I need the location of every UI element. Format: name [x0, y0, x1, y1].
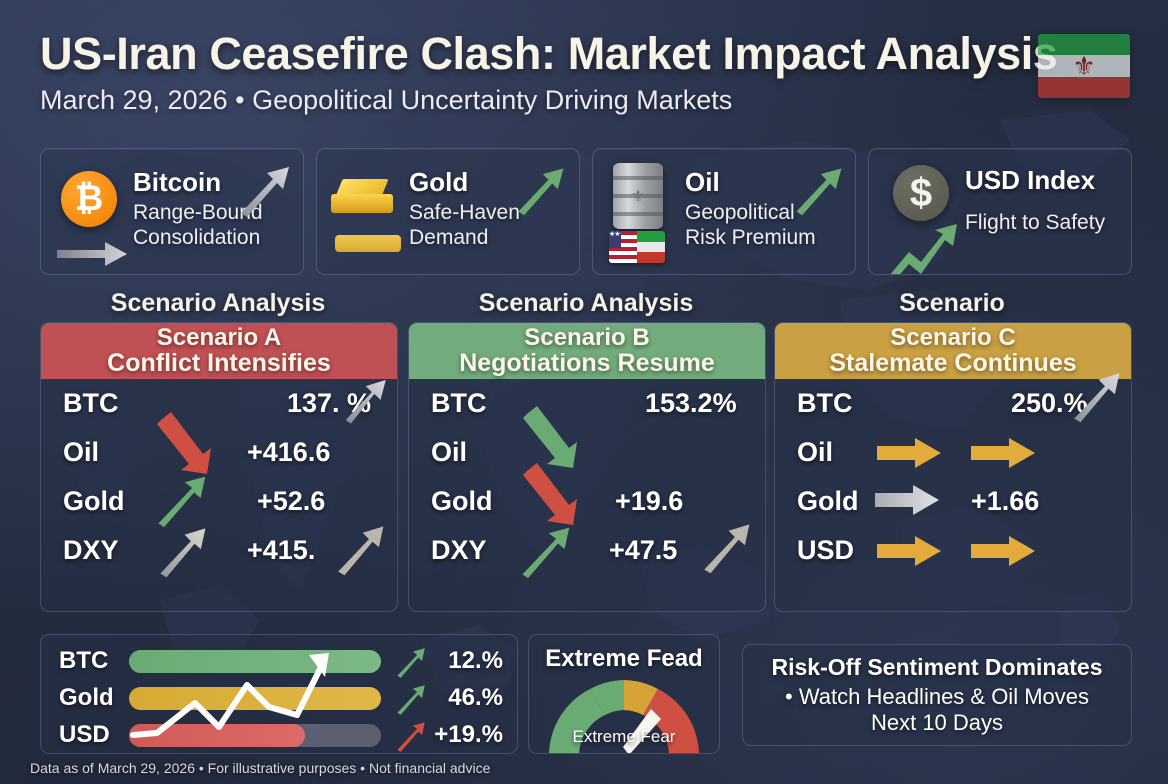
takeaway-panel[interactable]: Risk-Off Sentiment Dominates • Watch Hea…	[742, 644, 1132, 746]
row-arrow-right-icon	[875, 483, 941, 517]
asset-card-gold[interactable]: Gold Safe-Haven Demand	[316, 148, 580, 275]
performance-arrow-up-icon	[393, 682, 427, 716]
asset-card-subtitle-line2: Risk Premium	[685, 226, 849, 251]
asset-card-name: Bitcoin	[133, 167, 221, 198]
gold-accent-bar	[335, 235, 401, 252]
row-arrow-up-icon	[1067, 365, 1123, 427]
row-label: Gold	[797, 486, 859, 517]
row-value: +415.	[247, 535, 315, 566]
row-label: USD	[797, 535, 854, 566]
iran-flag-icon: ⚜	[1038, 34, 1130, 98]
gold-bar-icon	[331, 179, 393, 213]
row-label: BTC	[797, 388, 853, 419]
asset-card-oil[interactable]: ⚜ ★★★ Oil Geopolitical Risk	[592, 148, 856, 275]
trend-up-arrow-icon	[233, 159, 295, 221]
scenario-tag: Scenario C	[890, 325, 1015, 350]
scenario-name: Conflict Intensifies	[107, 350, 331, 376]
performance-value: 12.%	[448, 647, 503, 675]
asset-card-name: Gold	[409, 167, 468, 198]
page-subtitle: March 29, 2026 • Geopolitical Uncertaint…	[40, 85, 1128, 116]
footer-disclaimer: Data as of March 29, 2026 • For illustra…	[30, 760, 490, 776]
performance-arrow-up-icon	[393, 645, 427, 679]
scenario-name: Stalemate Continues	[829, 350, 1076, 376]
scenario-row: Oil	[409, 428, 765, 477]
scenario-row: Oil	[775, 428, 1131, 477]
performance-value: 46.%	[448, 684, 503, 712]
dollar-coin-icon: $	[893, 165, 949, 221]
scenario-header-b: Scenario B Negotiations Resume	[409, 323, 765, 379]
trend-up-arrow-icon	[511, 161, 569, 219]
row-label: Gold	[63, 486, 125, 517]
gauge-title: Extreme Fead	[529, 645, 719, 673]
us-iran-flag-icon: ★★★	[609, 231, 665, 263]
row-label: DXY	[431, 535, 487, 566]
trend-up-arrow-icon	[789, 161, 847, 219]
asset-card-usd-index[interactable]: $ USD Index Flight to Safety	[868, 148, 1132, 275]
row-label: Oil	[431, 437, 467, 468]
asset-card-bitcoin[interactable]: ₿ Bitcoin Range-Bound Consolidation	[40, 148, 304, 275]
row-label: DXY	[63, 535, 119, 566]
row-arrow-right-icon	[877, 534, 943, 568]
scenario-row: BTC 137. %	[41, 379, 397, 428]
scenario-body-a: BTC 137. % Oil +416.6	[41, 379, 397, 611]
performance-arrow-up-icon	[393, 719, 427, 753]
scenario-row: Gold +1.66	[775, 477, 1131, 526]
scenario-tag: Scenario B	[524, 325, 649, 350]
scenario-row: BTC 250.%	[775, 379, 1131, 428]
asset-card-subtitle-line2: Demand	[409, 226, 573, 251]
scenario-row: DXY +415.	[41, 526, 397, 575]
scenario-row: BTC 153.2%	[409, 379, 765, 428]
takeaway-line2: • Watch Headlines & Oil Moves	[785, 684, 1089, 710]
performance-panel[interactable]: BTC 12.% Gold 46.% USD +19.%	[40, 634, 518, 754]
row-value: +52.6	[257, 486, 325, 517]
performance-value: +19.%	[434, 721, 503, 749]
section-title-a: Scenario Analysis	[40, 289, 396, 318]
scenario-card-c[interactable]: Scenario C Stalemate Continues BTC 250.%…	[774, 322, 1132, 612]
row-value: +19.6	[615, 486, 683, 517]
row-label: Oil	[63, 437, 99, 468]
performance-label: BTC	[59, 647, 108, 675]
row-label: BTC	[63, 388, 119, 419]
row-value: 153.2%	[645, 388, 737, 419]
scenario-card-b[interactable]: Scenario B Negotiations Resume BTC 153.2…	[408, 322, 766, 612]
row-arrow-up-icon	[337, 371, 391, 429]
scenario-tag: Scenario A	[157, 325, 282, 350]
scenario-row: Oil +416.6	[41, 428, 397, 477]
section-title-c: Scenario	[774, 289, 1130, 318]
row-arrow-right-secondary-icon	[971, 436, 1037, 470]
oil-barrel-icon: ⚜	[613, 163, 663, 229]
page-title: US-Iran Ceasefire Clash: Market Impact A…	[40, 30, 1128, 77]
row-value: +1.66	[971, 486, 1039, 517]
scenario-row: USD	[775, 526, 1131, 575]
row-value: +47.5	[609, 535, 677, 566]
asset-card-subtitle-line1: Flight to Safety	[965, 211, 1132, 236]
row-label: BTC	[431, 388, 487, 419]
asset-card-name: Oil	[685, 167, 720, 198]
gauge-label: Extreme Fear	[529, 727, 719, 747]
row-arrow-up-secondary-icon	[697, 516, 753, 578]
fear-greed-gauge-panel[interactable]: Extreme Fead Extreme Fear	[528, 634, 720, 754]
performance-label: Gold	[59, 684, 114, 712]
asset-card-name: USD Index	[965, 165, 1095, 196]
trend-flat-arrow-icon	[57, 240, 129, 268]
scenario-body-b: BTC 153.2% Oil Gold +19.6	[409, 379, 765, 611]
row-arrow-right-secondary-icon	[971, 534, 1037, 568]
infographic-canvas: US-Iran Ceasefire Clash: Market Impact A…	[0, 0, 1168, 784]
row-arrow-up-secondary-icon	[331, 518, 387, 580]
asset-card-subtitle-line2: Consolidation	[133, 226, 297, 251]
takeaway-line1: Risk-Off Sentiment Dominates	[772, 654, 1103, 681]
row-arrow-up-icon	[515, 520, 573, 582]
row-label: Oil	[797, 437, 833, 468]
scenario-row: DXY +47.5	[409, 526, 765, 575]
scenario-card-a[interactable]: Scenario A Conflict Intensifies BTC 137.…	[40, 322, 398, 612]
section-title-b: Scenario Analysis	[408, 289, 764, 318]
row-arrow-right-icon	[877, 436, 943, 470]
trend-up-arrow-icon	[887, 222, 959, 275]
bitcoin-coin-icon: ₿	[61, 171, 117, 227]
asset-card-row: ₿ Bitcoin Range-Bound Consolidation	[40, 148, 1132, 275]
scenario-name: Negotiations Resume	[459, 350, 715, 376]
performance-label: USD	[59, 721, 110, 749]
row-label: Gold	[431, 486, 493, 517]
asset-card-subtitle: Flight to Safety	[965, 211, 1132, 236]
scenario-body-c: BTC 250.% Oil	[775, 379, 1131, 611]
takeaway-line3: Next 10 Days	[871, 710, 1003, 736]
trend-line-overlay-icon	[129, 649, 383, 741]
row-value: +416.6	[247, 437, 330, 468]
row-arrow-up-icon	[153, 520, 209, 582]
header: US-Iran Ceasefire Clash: Market Impact A…	[40, 30, 1128, 116]
